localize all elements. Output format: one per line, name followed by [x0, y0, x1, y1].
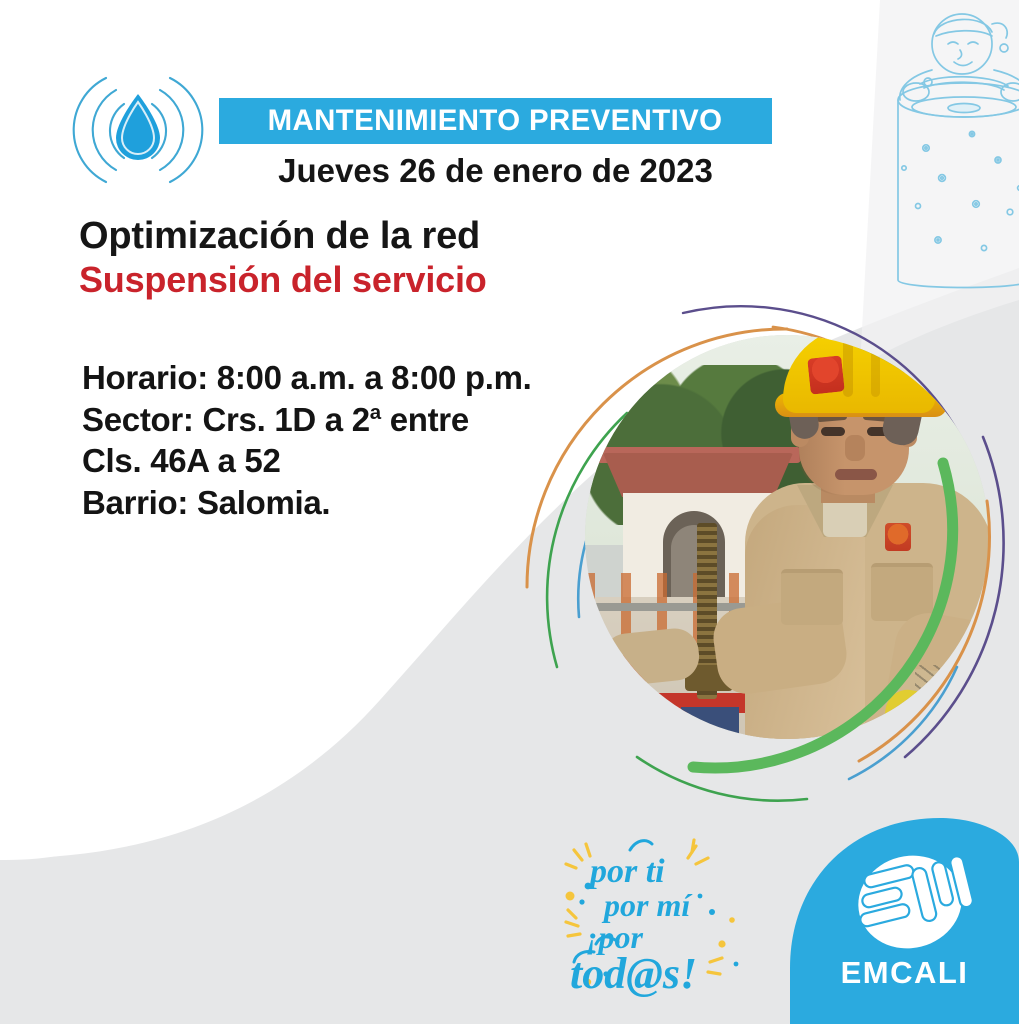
headline-line-1: Optimización de la red	[79, 216, 699, 257]
poster-canvas: MANTENIMIENTO PREVENTIVO Jueves 26 de en…	[0, 0, 1019, 1024]
slogan-line-1: por ti	[587, 853, 665, 890]
worker-photo-group	[487, 287, 1019, 812]
detail-sector-text: Sector: Crs. 1D a 2	[82, 401, 370, 438]
slogan-por-ti-por-mi-por-todos: por ti por mí ¡por tod@s! por ti por mí …	[560, 834, 760, 1002]
slogan-line-4: tod@s!	[570, 949, 697, 998]
announcement-date: Jueves 26 de enero de 2023	[219, 152, 772, 190]
person-in-water-tank-illustration	[880, 8, 1019, 298]
slogan-line-2: por mí	[601, 887, 693, 923]
emcali-em-monogram-icon	[845, 852, 975, 952]
decorative-arcs-front	[487, 287, 1019, 812]
detail-sector-ordinal: a	[370, 401, 381, 424]
water-drop-ripple-icon	[72, 64, 204, 196]
maintenance-banner: MANTENIMIENTO PREVENTIVO	[219, 98, 772, 144]
banner-title: MANTENIMIENTO PREVENTIVO	[268, 104, 723, 138]
detail-sector-entre: entre	[381, 401, 469, 438]
emcali-wordmark: EMCALI	[790, 955, 1019, 991]
